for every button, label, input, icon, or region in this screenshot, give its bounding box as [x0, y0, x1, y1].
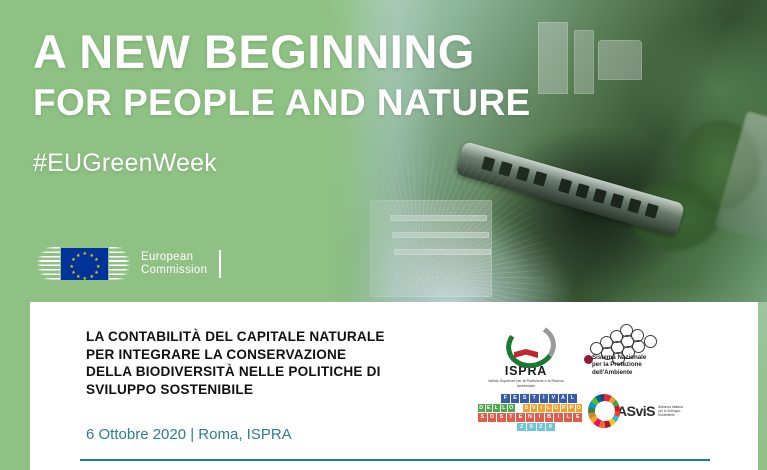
event-poster: A NEW BEGINNING FOR PEOPLE AND NATURE #E… — [0, 0, 767, 470]
event-info-card: LA CONTABILITÀ DEL CAPITALE NATURALE PER… — [30, 302, 758, 470]
headline-line-1: A NEW BEGINNING — [33, 27, 733, 77]
eu-flag-icon: ★ ★ ★ ★ ★ ★ ★ ★ ★ ★ ★ ★ — [61, 248, 108, 280]
festival-row-1: FE ST IV AL — [478, 394, 582, 403]
festival-row-2: DE LL O SV IL UP PO — [478, 404, 582, 413]
campaign-hashtag: #EUGreenWeek — [33, 149, 733, 177]
asvis-subtitle: Alleanza Italiana per lo Sviluppo Sosten… — [658, 405, 688, 418]
ispra-logo: ISPRA Istituto Superiore per la Protezio… — [480, 322, 572, 388]
festival-sviluppo-sostenibile-logo: FE ST IV AL DE LL O SV IL UP PO — [478, 394, 582, 432]
italian-republic-emblem-icon — [504, 322, 548, 362]
card-bottom-rule — [80, 459, 710, 461]
sdg-wheel-icon — [588, 394, 620, 428]
asvis-logo: ASviS Alleanza Italiana per lo Sviluppo … — [588, 394, 688, 428]
asvis-name: ASviS — [617, 403, 655, 419]
eu-logo-line-2: Commission — [141, 264, 207, 278]
right-green-strip — [758, 302, 767, 470]
european-commission-logo: ★ ★ ★ ★ ★ ★ ★ ★ ★ ★ ★ ★ European Commiss… — [32, 244, 221, 284]
snpa-logo: Sistema Nazionale per la Protezione dell… — [578, 324, 690, 366]
eu-wave-left-icon — [32, 247, 60, 281]
snpa-line-1: Sistema Nazionale — [592, 354, 646, 361]
snpa-line-3: dell'Ambiente — [592, 369, 646, 376]
eu-logo-text: European Commission — [141, 251, 207, 278]
eu-logo-divider — [219, 250, 221, 278]
festival-row-3: SO ST EN IB IL E — [478, 413, 582, 422]
event-date-location: 6 Ottobre 2020 | Roma, ISPRA — [86, 426, 416, 444]
snpa-text: Sistema Nazionale per la Protezione dell… — [592, 354, 646, 376]
ispra-subtitle: Istituto Superiore per la Protezione e l… — [480, 379, 572, 388]
headline-line-2: FOR PEOPLE AND NATURE — [33, 81, 733, 125]
festival-row-4: 20 20 — [478, 423, 582, 432]
snpa-line-2: per la Protezione — [592, 361, 646, 368]
event-title: LA CONTABILITÀ DEL CAPITALE NATURALE PER… — [86, 328, 386, 398]
sponsor-logos: ISPRA Istituto Superiore per la Protezio… — [460, 318, 690, 458]
eu-wave-right-icon — [109, 247, 133, 281]
headline-block: A NEW BEGINNING FOR PEOPLE AND NATURE #E… — [33, 27, 733, 177]
eu-logo-line-1: European — [141, 251, 207, 265]
